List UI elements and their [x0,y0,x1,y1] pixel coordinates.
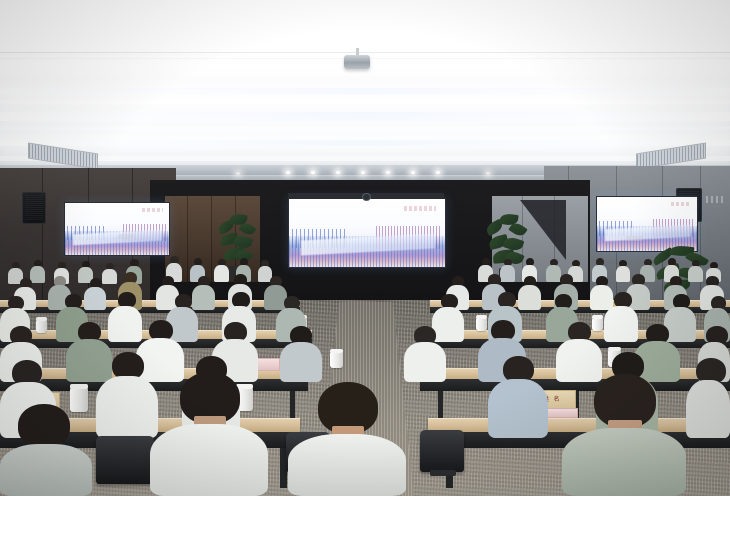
ceiling [0,0,730,186]
video-camera-icon [362,193,371,201]
ceiling-downlight [411,171,415,174]
attendee-foreground-left [150,372,268,496]
office-chair [420,430,464,472]
teacup-lid [330,349,343,353]
teacup-lid [592,315,603,319]
ceiling-light-strip [0,156,730,161]
conference-room-photograph: 姓 名 姓 名 [0,0,730,496]
ceiling-light-strip [0,126,730,130]
teacup [330,352,343,368]
ceiling-downlight [286,171,290,174]
ceiling-light-strip [0,100,730,104]
ceiling-downlight [436,171,440,174]
ceiling-light-strip [0,88,730,95]
attendee-torso [562,428,686,496]
ceiling-light-strip [0,140,730,146]
chair-base [430,470,456,476]
wall-speaker-left [22,192,46,224]
attendee-foreground-far-left [0,404,92,496]
attendee-head [18,404,70,448]
ceiling-projector [344,55,370,69]
attendee-foreground-center [288,382,406,496]
ceiling-downlight [311,171,315,174]
attendee-torso [288,434,406,496]
teacup-lid [36,317,47,321]
teacup-lid [476,315,487,319]
attendee-torso [150,424,268,496]
screenshot-root: 姓 名 姓 名 [0,0,730,548]
right-screen-label [626,236,642,241]
left-screen-label [118,234,134,239]
teacup-lid [608,347,621,351]
left-screen [64,202,170,256]
right-screen [596,196,698,252]
desk-leg [438,391,443,421]
ceiling-light-strip [0,112,730,121]
ceiling-downlight [486,172,490,175]
teacup-lid [70,384,88,389]
ceiling-downlight [336,171,340,174]
ceiling-downlight [236,172,240,175]
main-screen [288,198,446,268]
office-chair [96,436,154,484]
attendee-torso [0,444,92,496]
wall-signage [706,196,724,203]
ceiling-downlight [386,171,390,174]
ceiling-downlight [361,171,365,174]
attendee-foreground-right [562,374,686,496]
main-screen-logo [404,206,435,211]
